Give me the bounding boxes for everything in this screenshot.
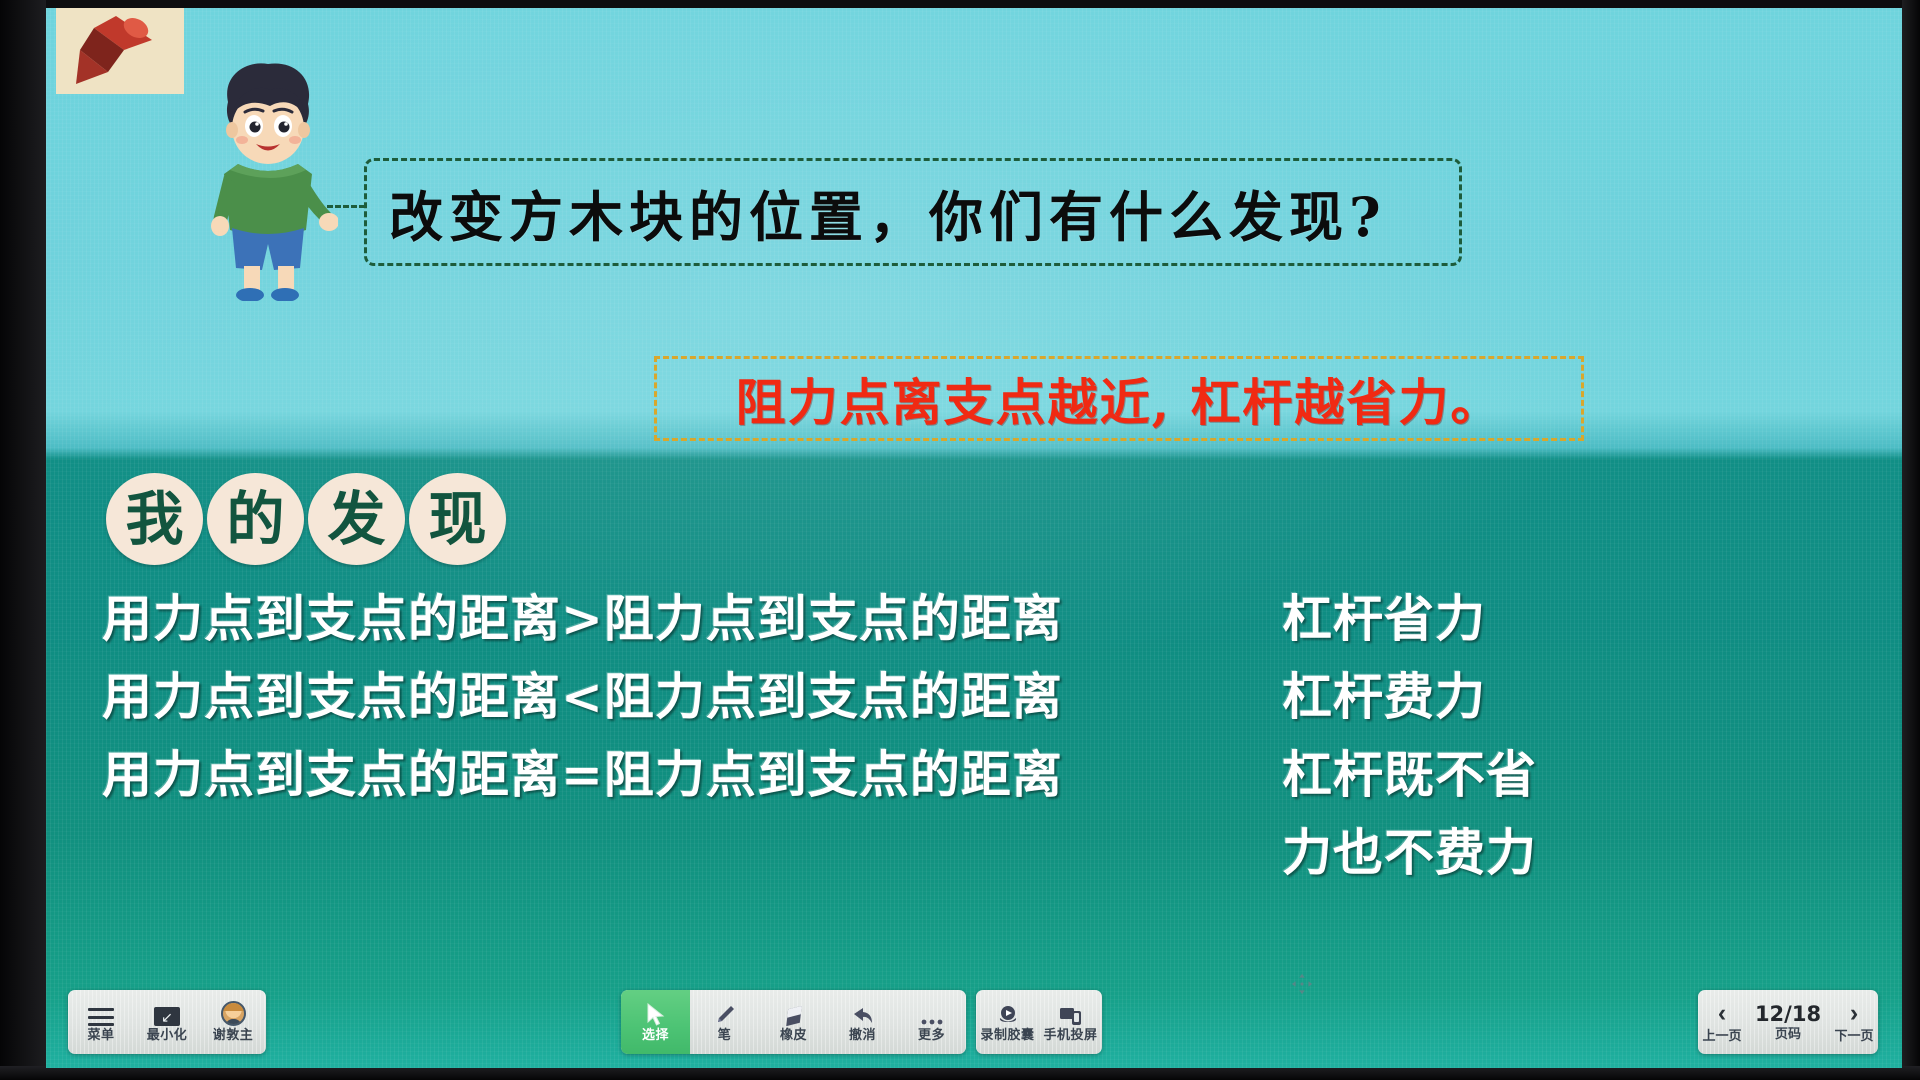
next-page-button[interactable]: › 下一页 xyxy=(1830,990,1878,1054)
tool-select-label: 选择 xyxy=(642,1029,669,1042)
tool-pen-label: 笔 xyxy=(718,1029,732,1042)
cartoon-boy-illustration xyxy=(198,56,338,301)
finding-row-continuation: 力也不费力 xyxy=(102,814,1842,892)
tool-more-button[interactable]: 更多 xyxy=(897,990,966,1054)
tool-eraser-label: 橡皮 xyxy=(780,1029,807,1042)
move-cursor-icon xyxy=(1291,973,1313,995)
toolbar-tools-group: 选择 笔 橡皮 xyxy=(621,990,966,1054)
pen-icon xyxy=(714,1002,736,1026)
record-capsule-label: 录制胶囊 xyxy=(980,1029,1034,1042)
tool-undo-label: 撤消 xyxy=(849,1029,876,1042)
chip-2-label: 的 xyxy=(226,490,284,548)
section-heading-chips: 我 的 发 现 xyxy=(106,473,506,565)
tool-undo-button[interactable]: 撤消 xyxy=(828,990,897,1054)
tool-eraser-button[interactable]: 橡皮 xyxy=(759,990,828,1054)
undo-icon xyxy=(851,1002,875,1026)
chip-3: 发 xyxy=(308,473,405,565)
next-page-label: 下一页 xyxy=(1834,1030,1873,1043)
menu-button[interactable]: 菜单 xyxy=(68,990,134,1054)
previous-page-label: 上一页 xyxy=(1702,1030,1741,1043)
pushpin-icon xyxy=(64,10,160,84)
chip-3-label: 发 xyxy=(327,490,385,548)
chip-4: 现 xyxy=(409,473,506,565)
finding-row: 用力点到支点的距离=阻力点到支点的距离 杠杆既不省 xyxy=(102,736,1842,814)
user-account-button[interactable]: 谢敦主 xyxy=(200,990,266,1054)
finding-spacer xyxy=(102,814,1282,892)
finding-result-line2: 力也不费力 xyxy=(1282,814,1537,892)
slide-canvas[interactable]: 改变方木块的位置，你们有什么发现? 阻力点离支点越近, 杠杆越省力。 我 的 发… xyxy=(46,8,1902,1068)
interactive-whiteboard-device: 改变方木块的位置，你们有什么发现? 阻力点离支点越近, 杠杆越省力。 我 的 发… xyxy=(0,0,1920,1080)
finding-result: 杠杆省力 xyxy=(1282,580,1486,658)
red-conclusion-box: 阻力点离支点越近, 杠杆越省力。 xyxy=(654,356,1584,441)
page-indicator[interactable]: 12/18 页码 xyxy=(1746,990,1830,1054)
record-capsule-button[interactable]: 录制胶囊 xyxy=(976,990,1039,1054)
chip-1-label: 我 xyxy=(125,490,183,548)
finding-condition: 用力点到支点的距离=阻力点到支点的距离 xyxy=(102,736,1282,814)
tool-pen-button[interactable]: 笔 xyxy=(690,990,759,1054)
finding-condition: 用力点到支点的距离>阻力点到支点的距离 xyxy=(102,580,1282,658)
bezel-left xyxy=(0,0,46,1080)
phone-cast-icon xyxy=(1059,1002,1083,1026)
menu-button-label: 菜单 xyxy=(87,1029,114,1042)
toolbar-pager-group: ‹ 上一页 12/18 页码 › 下一页 xyxy=(1698,990,1878,1054)
findings-list: 用力点到支点的距离>阻力点到支点的距离 杠杆省力 用力点到支点的距离<阻力点到支… xyxy=(102,580,1842,892)
minimize-button[interactable]: ↙ 最小化 xyxy=(134,990,200,1054)
screen: 改变方木块的位置，你们有什么发现? 阻力点离支点越近, 杠杆越省力。 我 的 发… xyxy=(46,8,1902,1068)
toolbar-left-group: 菜单 ↙ 最小化 谢敦主 xyxy=(68,990,266,1054)
avatar-icon xyxy=(221,1002,246,1026)
finding-result: 杠杆既不省 xyxy=(1282,736,1537,814)
question-box: 改变方木块的位置，你们有什么发现? xyxy=(364,158,1462,266)
phone-cast-button[interactable]: 手机投屏 xyxy=(1039,990,1102,1054)
red-conclusion-text: 阻力点离支点越近, 杠杆越省力。 xyxy=(736,363,1503,435)
user-account-label: 谢敦主 xyxy=(213,1029,254,1042)
more-icon xyxy=(921,1002,943,1026)
minimize-icon: ↙ xyxy=(154,1002,180,1026)
chip-1: 我 xyxy=(106,473,203,565)
minimize-button-label: 最小化 xyxy=(147,1029,188,1042)
chip-4-label: 现 xyxy=(428,490,486,548)
question-text: 改变方木块的位置，你们有什么发现? xyxy=(389,173,1387,252)
tool-select-button[interactable]: 选择 xyxy=(621,990,690,1054)
toolbar-cast-group: 录制胶囊 手机投屏 xyxy=(976,990,1102,1054)
page-number-value: 12/18 xyxy=(1755,1004,1821,1025)
finding-row: 用力点到支点的距离<阻力点到支点的距离 杠杆费力 xyxy=(102,658,1842,736)
page-number-label: 页码 xyxy=(1775,1028,1801,1041)
previous-page-button[interactable]: ‹ 上一页 xyxy=(1698,990,1746,1054)
bezel-top xyxy=(0,0,1920,8)
eraser-icon xyxy=(782,1002,806,1026)
bezel-right xyxy=(1902,0,1920,1080)
finding-row: 用力点到支点的距离>阻力点到支点的距离 杠杆省力 xyxy=(102,580,1842,658)
phone-cast-label: 手机投屏 xyxy=(1043,1029,1097,1042)
cursor-icon xyxy=(646,1002,665,1026)
finding-condition: 用力点到支点的距离<阻力点到支点的距离 xyxy=(102,658,1282,736)
bezel-bottom xyxy=(0,1066,1920,1080)
tool-more-label: 更多 xyxy=(918,1029,945,1042)
chip-2: 的 xyxy=(207,473,304,565)
chevron-left-icon: ‹ xyxy=(1718,1001,1726,1026)
chevron-right-icon: › xyxy=(1850,1001,1858,1026)
hamburger-icon xyxy=(88,1002,114,1026)
record-capsule-icon xyxy=(996,1002,1020,1026)
finding-result: 杠杆费力 xyxy=(1282,658,1486,736)
